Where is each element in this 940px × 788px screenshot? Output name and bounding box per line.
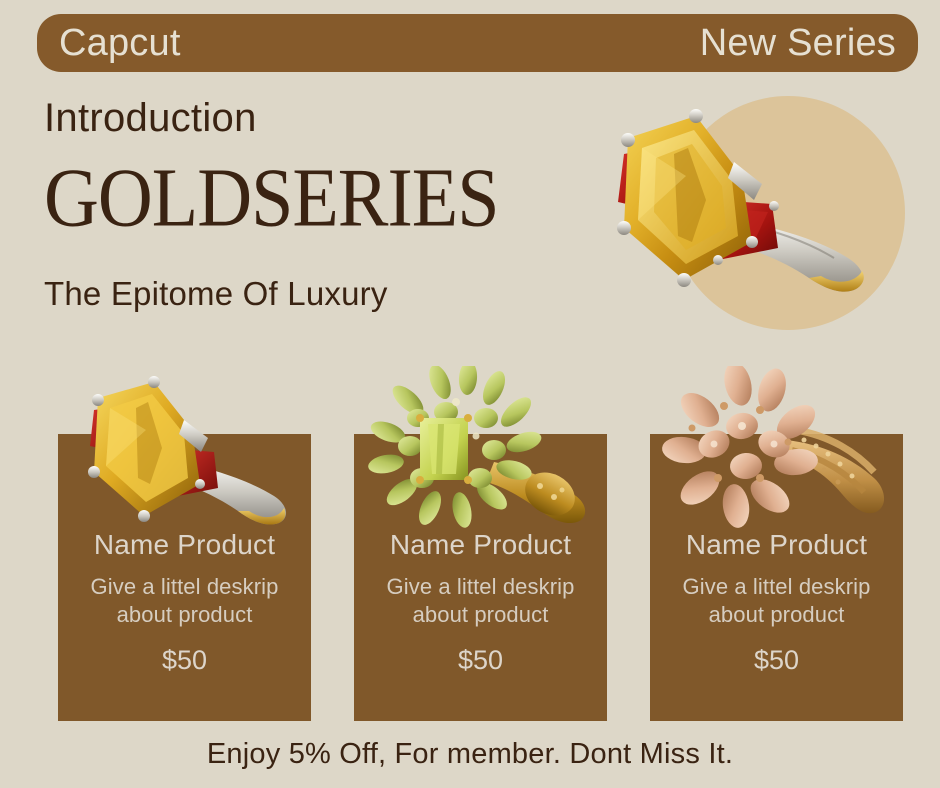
citrine-garnet-ring-hero-icon (566, 96, 876, 326)
product-card-body: Name Product Give a littel deskrip about… (354, 530, 607, 674)
product-name: Name Product (364, 530, 597, 561)
product-price: $50 (660, 647, 893, 674)
product-card-body: Name Product Give a littel deskrip about… (58, 530, 311, 674)
brand-label: Capcut (59, 24, 181, 62)
product-card-list: Name Product Give a littel deskrip about… (58, 434, 900, 721)
product-description: Give a littel deskrip about product (364, 573, 597, 629)
header-bar: Capcut New Series (37, 14, 918, 72)
morganite-rose-gold-ring-icon (646, 366, 906, 546)
product-card[interactable]: Name Product Give a littel deskrip about… (354, 434, 607, 721)
product-description: Give a littel deskrip about product (68, 573, 301, 629)
product-card[interactable]: Name Product Give a littel deskrip about… (58, 434, 311, 721)
series-label: New Series (700, 24, 896, 62)
citrine-garnet-ring-icon (50, 368, 310, 548)
product-card-body: Name Product Give a littel deskrip about… (650, 530, 903, 674)
promo-banner: Enjoy 5% Off, For member. Dont Miss It. (0, 738, 940, 771)
poster-canvas: Capcut New Series Introduction GOLDSERIE… (0, 0, 940, 788)
intro-subtitle: The Epitome Of Luxury (44, 276, 564, 312)
product-name: Name Product (660, 530, 893, 561)
product-price: $50 (68, 647, 301, 674)
product-name: Name Product (68, 530, 301, 561)
page-title: GOLDSERIES (44, 156, 564, 240)
promo-text: Enjoy 5% Off, For member. Dont Miss It. (207, 738, 733, 770)
product-card[interactable]: Name Product Give a littel deskrip about… (650, 434, 903, 721)
intro-kicker: Introduction (44, 96, 564, 140)
intro-block: Introduction GOLDSERIES The Epitome Of L… (44, 96, 564, 312)
product-price: $50 (364, 647, 597, 674)
peridot-cluster-ring-icon (344, 366, 604, 546)
product-description: Give a littel deskrip about product (660, 573, 893, 629)
